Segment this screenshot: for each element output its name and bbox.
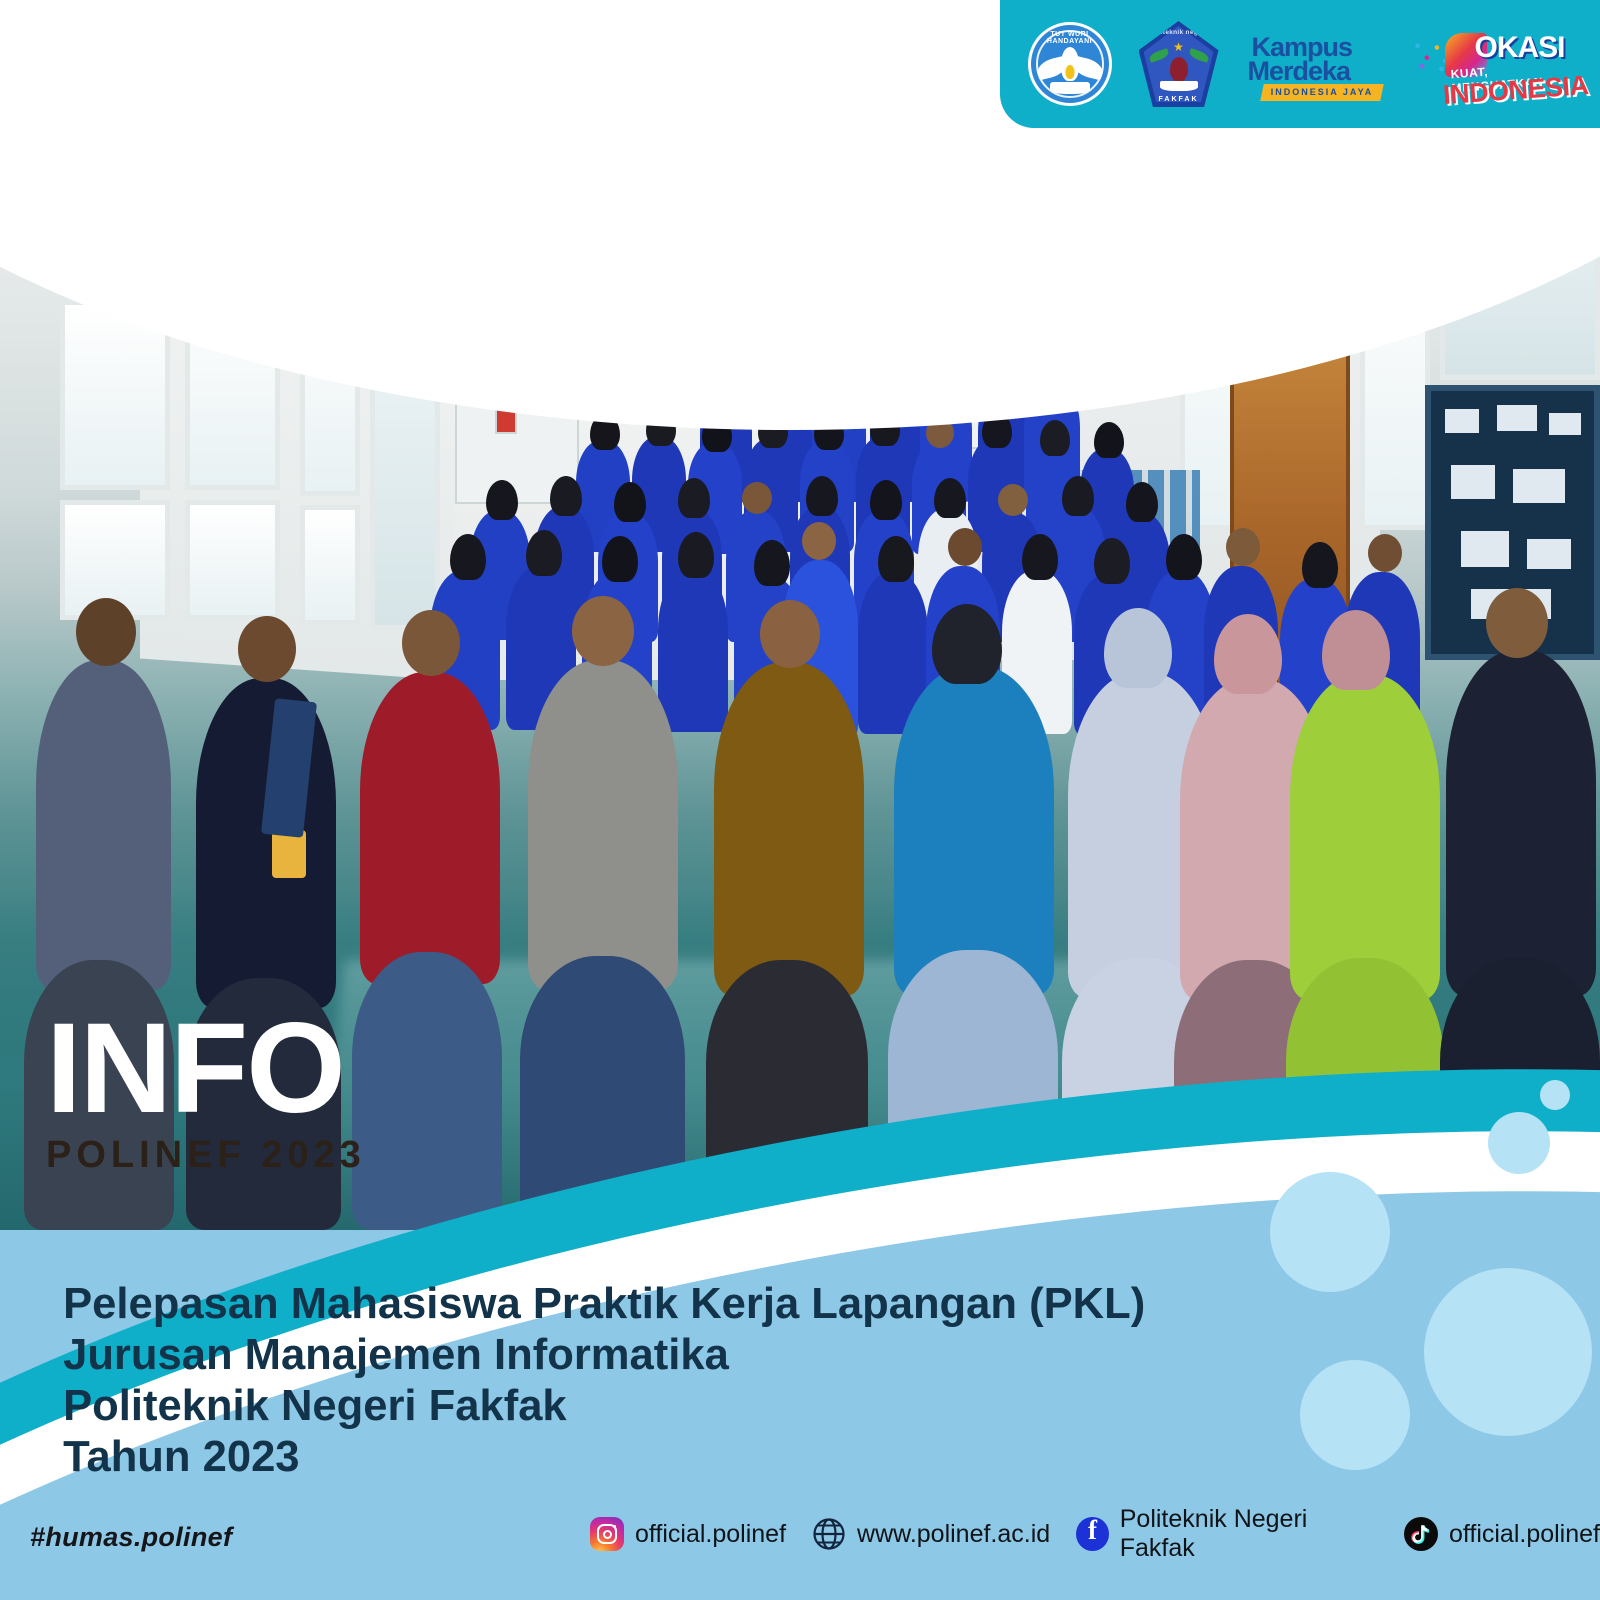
- caption-line-3: Politeknik Negeri Fakfak: [63, 1380, 1469, 1431]
- decorative-circle: [1540, 1080, 1570, 1110]
- person-head: [998, 484, 1028, 516]
- person-head: [806, 476, 838, 516]
- info-block: INFO POLINEF 2023: [46, 1008, 366, 1177]
- person-head: [1368, 534, 1402, 572]
- vokasi-indonesia-logo: OKASI KUAT, MENGUATKAN INDONESIA: [1413, 23, 1573, 105]
- person-head: [948, 528, 982, 566]
- person-head: [1022, 534, 1058, 580]
- social-item-website[interactable]: www.polinef.ac.id: [812, 1517, 1050, 1551]
- person-front: [528, 660, 678, 990]
- crest-top-label: politeknik negeri: [1139, 29, 1219, 36]
- person-front: [36, 660, 171, 990]
- person-head: [1126, 482, 1158, 522]
- person-front: [196, 678, 336, 1008]
- person-head: [678, 478, 710, 518]
- social-item-facebook[interactable]: f Politeknik Negeri Fakfak: [1076, 1505, 1378, 1563]
- person-head: [878, 536, 914, 582]
- person-front: [714, 662, 864, 996]
- person-front: [1290, 674, 1440, 1000]
- tut-wuri-handayani-logo: TUT WURI HANDAYANI: [1028, 22, 1112, 106]
- person-head: [760, 600, 820, 668]
- poster-root: TUT WURI HANDAYANI politeknik negeri ★ F…: [0, 0, 1600, 1600]
- globe-icon[interactable]: [812, 1517, 846, 1551]
- instagram-handle: official.polinef: [635, 1520, 786, 1549]
- person-head: [550, 476, 582, 516]
- social-item-tiktok[interactable]: official.polinef: [1404, 1517, 1600, 1551]
- star-icon: ★: [1173, 41, 1184, 53]
- decorative-circle: [1270, 1172, 1390, 1292]
- facebook-page-name: Politeknik Negeri Fakfak: [1120, 1505, 1378, 1563]
- footer-social-row: official.polinef www.polinef.ac.id f Pol…: [590, 1505, 1600, 1563]
- kampus-merdeka-line2: Merdeka: [1248, 56, 1351, 87]
- info-subtitle: POLINEF 2023: [46, 1134, 366, 1177]
- info-title: INFO: [46, 1008, 366, 1130]
- hashtag-humas: #humas.polinef: [30, 1522, 232, 1553]
- id-badge: [272, 830, 306, 878]
- person-head: [1302, 542, 1338, 588]
- person-head: [450, 534, 486, 580]
- person-head: [1166, 534, 1202, 580]
- person-head: [614, 482, 646, 522]
- person-front: [894, 666, 1054, 996]
- person-front: [360, 672, 500, 984]
- website-url: www.polinef.ac.id: [857, 1520, 1050, 1549]
- decorative-circle: [1488, 1112, 1550, 1174]
- instagram-icon[interactable]: [590, 1517, 624, 1551]
- caption-line-2: Jurusan Manajemen Informatika: [63, 1329, 1469, 1380]
- person-head: [402, 610, 460, 676]
- person-head: [870, 480, 902, 520]
- person-head: [486, 480, 518, 520]
- caption-line-1: Pelepasan Mahasiswa Praktik Kerja Lapang…: [63, 1278, 1469, 1329]
- facebook-icon[interactable]: f: [1076, 1517, 1109, 1551]
- tut-wuri-ring-label: TUT WURI HANDAYANI: [1031, 31, 1109, 45]
- person-head: [1486, 588, 1548, 658]
- kampus-merdeka-logo: Kampus Merdeka INDONESIA JAYA: [1246, 24, 1386, 104]
- person-head: [526, 530, 562, 576]
- person-head: [1226, 528, 1260, 566]
- person: [658, 568, 728, 732]
- caption-block: Pelepasan Mahasiswa Praktik Kerja Lapang…: [63, 1278, 1469, 1482]
- kampus-merdeka-ribbon: INDONESIA JAYA: [1262, 84, 1382, 101]
- crest-bottom-label: FAKFAK: [1139, 96, 1219, 103]
- person-head: [742, 482, 772, 514]
- person-front: [1446, 650, 1596, 996]
- person-head: [934, 478, 966, 518]
- tiktok-icon[interactable]: [1404, 1517, 1438, 1551]
- politeknik-negeri-fakfak-crest: politeknik negeri ★ FAKFAK: [1139, 21, 1219, 107]
- person-head: [602, 536, 638, 582]
- person-head: [678, 532, 714, 578]
- tiktok-handle: official.polinef: [1449, 1520, 1600, 1549]
- person-head: [238, 616, 296, 682]
- person-head: [76, 598, 136, 666]
- person-head: [802, 522, 836, 560]
- header-logo-bar: TUT WURI HANDAYANI politeknik negeri ★ F…: [1000, 0, 1600, 128]
- person-head: [1094, 538, 1130, 584]
- person-head: [572, 596, 634, 666]
- social-item-instagram[interactable]: official.polinef: [590, 1517, 786, 1551]
- person-legs: [352, 952, 502, 1230]
- caption-line-4: Tahun 2023: [63, 1431, 1469, 1482]
- person-head: [1062, 476, 1094, 516]
- person-head: [754, 540, 790, 586]
